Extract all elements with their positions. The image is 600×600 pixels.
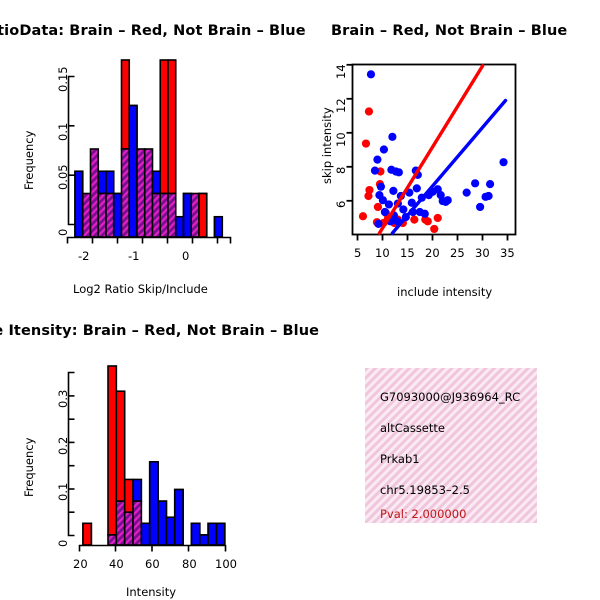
intensity-hist-xtick-60: 60 [145,557,160,571]
ratio-hist-ytick-0.00: 0 [56,229,70,236]
scatter-ytick-6: 6 [334,201,348,208]
intensity-hist-ytick-0.20: 0.2 [56,437,70,455]
intensity-hist-ytick-0.00: 0 [56,540,70,547]
intensity-hist-ytick-0.30: 0.3 [56,390,70,408]
panel-intensity-histogram: Gene Itensity: Brain – Red, Not Brain – … [0,300,300,600]
gene-info-panel: G7093000@J936964_RC altCassette Prkab1 c… [365,368,537,523]
scatter-xtick-5: 5 [354,246,361,260]
ratio-hist-xtick-0.0: 0 [182,249,189,263]
scatter-ytick-10: 10 [334,132,348,147]
ratio-hist-y-axis [69,77,75,225]
scatter-xlabel: include intensity [397,285,492,299]
info-line-pval: Pval: 2.000000 [380,507,466,521]
ratio-hist-xtick--1.0: -1 [128,249,139,263]
panel-scatter: Brain – Red, Not Brain – Blue [300,0,600,300]
scatter-ytick-12: 12 [334,98,348,113]
info-line-gene: Prkab1 [380,452,420,466]
intensity-hist-xtick-80: 80 [182,557,197,571]
intensity-hist-xtick-40: 40 [109,557,124,571]
scatter-xtick-35: 35 [500,246,515,260]
panel-ratio-histogram: RatioData: Brain – Red, Not Brain – Blue… [0,0,300,300]
scatter-xtick-15: 15 [400,246,415,260]
info-line-locus: chr5.19853–2.5 [380,483,470,497]
scatter-xtick-10: 10 [375,246,390,260]
intensity-hist-xtick-20: 20 [73,557,88,571]
intensity-hist-xtick-100: 100 [215,557,237,571]
scatter-ytick-8: 8 [334,167,348,174]
r-multi-panel-figure: RatioData: Brain – Red, Not Brain – Blue… [0,0,600,600]
scatter-ylabel: skip intensity [320,107,334,184]
scatter-xtick-20: 20 [425,246,440,260]
info-line-probe: G7093000@J936964_RC [380,390,520,404]
ratio-hist-ytick-0.05: 0.05 [56,164,70,190]
info-line-event: altCassette [380,421,445,435]
scatter-ytick-14: 14 [334,64,348,79]
ratio-hist-ytick-0.10: 0.1 [56,123,70,141]
ratio-hist-ylabel: Frequency [22,131,36,190]
intensity-histogram-plot [0,300,300,600]
intensity-hist-ylabel: Frequency [22,438,36,497]
ratio-hist-xlabel: Log2 Ratio Skip/Include [73,282,208,296]
ratio-hist-ytick-0.15: 0.15 [56,66,70,92]
intensity-hist-xlabel: Intensity [126,585,176,599]
intensity-hist-ytick-0.10: 0.1 [56,483,70,501]
ratio-hist-xtick--2.0: -2 [78,249,89,263]
ratio-histogram-plot [0,0,300,300]
scatter-xtick-30: 30 [475,246,490,260]
scatter-xtick-25: 25 [450,246,465,260]
